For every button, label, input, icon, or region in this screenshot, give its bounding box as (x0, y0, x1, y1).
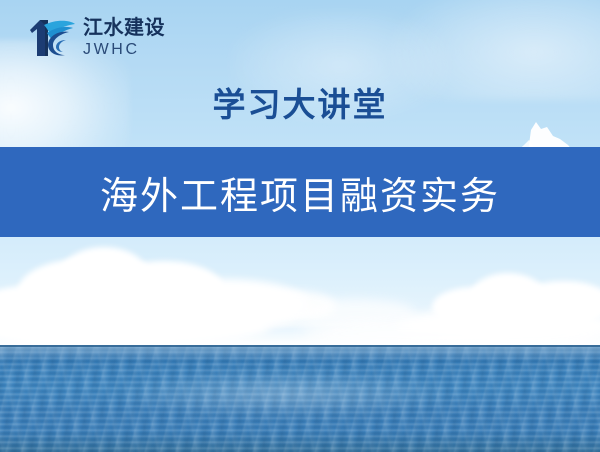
horizon-haze (0, 333, 600, 345)
logo-company-name-en: JWHC (83, 42, 165, 58)
banner-title-text: 海外工程项目融资实务 (100, 165, 500, 220)
sea-background (0, 345, 600, 452)
brand-logo[interactable]: 江水建设 JWHC (28, 16, 165, 60)
logo-company-name-cn: 江水建设 (83, 18, 165, 38)
cloud-band (0, 237, 600, 345)
cloud-puff (104, 261, 224, 317)
jwhc-wave-monogram-icon (28, 16, 76, 60)
headline-text: 学习大讲堂 (0, 78, 600, 126)
sea-distance-fade (0, 345, 600, 361)
cloud-streak (330, 329, 600, 331)
sea-glint (120, 371, 450, 417)
logo-wordmark: 江水建设 JWHC (83, 18, 165, 58)
title-banner: 海外工程项目融资实务 (0, 147, 600, 237)
horizon-line (0, 345, 600, 347)
poster-slide: 江水建设 JWHC 学习大讲堂 海外工程项目融资实务 (0, 0, 600, 452)
cloud-streak (180, 323, 480, 326)
